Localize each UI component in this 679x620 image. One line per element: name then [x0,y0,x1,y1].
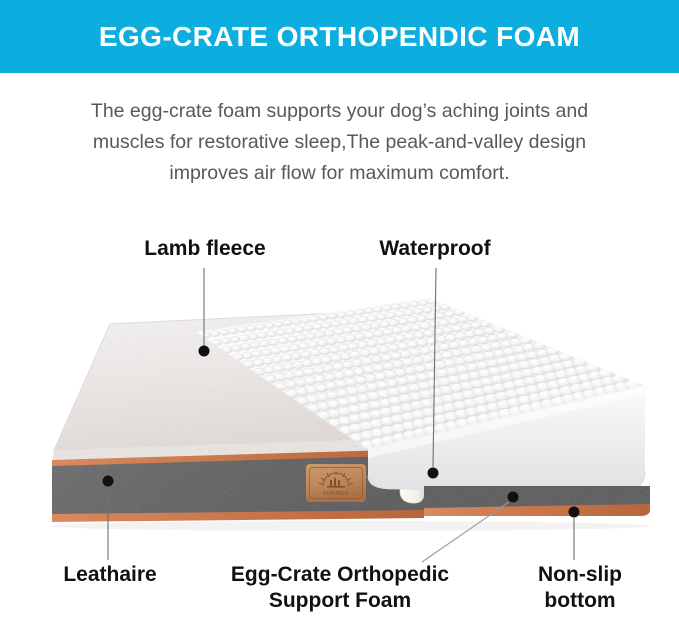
header-banner: EGG-CRATE ORTHOPENDIC FOAM [0,0,679,73]
callout-egg-crate-line2: Support Foam [190,588,490,614]
brand-logo-tag: SUNMER [306,464,366,502]
non-slip-bottom-base [424,486,650,516]
callout-lamb-fleece-line1: Lamb fleece [144,237,265,260]
intro-paragraph: The egg-crate foam supports your dog’s a… [40,96,639,189]
callout-leathaire-line1: Leathaire [63,563,156,586]
intro-line-1: The egg-crate foam supports your dog’s a… [40,96,639,127]
callout-non-slip-line2: bottom [480,588,679,614]
callout-waterproof-line1: Waterproof [379,237,490,260]
page-title: EGG-CRATE ORTHOPENDIC FOAM [99,21,580,53]
svg-text:SUNMER: SUNMER [323,491,350,497]
callout-non-slip-line1: Non-slip [538,563,622,586]
intro-line-2: muscles for restorative sleep,The peak-a… [40,127,639,158]
callout-label-egg-crate-support-foam: Egg-Crate Orthopedic Support Foam [190,562,490,614]
callout-label-leathaire: Leathaire [10,562,210,588]
callout-egg-crate-line1: Egg-Crate Orthopedic [231,563,449,586]
product-illustration: SUNMER [0,290,679,535]
intro-line-3: improves air flow for maximum comfort. [40,158,639,189]
callout-label-waterproof: Waterproof [300,236,570,262]
callout-label-non-slip-bottom: Non-slip bottom [480,562,679,614]
